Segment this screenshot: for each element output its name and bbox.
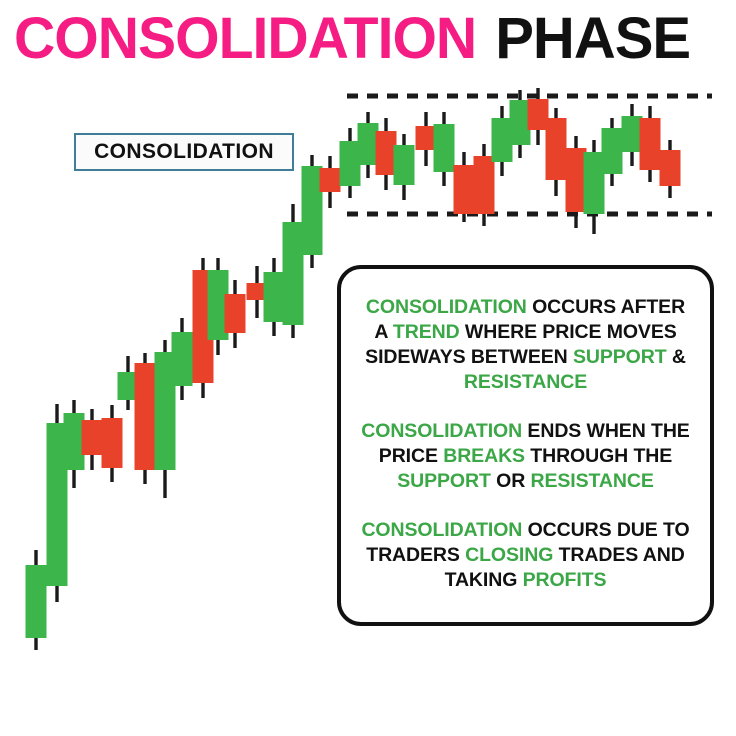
candle-33-down xyxy=(640,106,661,182)
candle-31-up xyxy=(602,118,623,186)
candle-body xyxy=(474,156,495,214)
plain-term: THROUGH THE xyxy=(525,445,672,467)
highlight-term: RESISTANCE xyxy=(464,371,587,393)
highlight-term: BREAKS xyxy=(443,445,525,467)
candle-body xyxy=(320,168,341,192)
candle-body xyxy=(546,118,567,180)
highlight-term: SUPPORT xyxy=(573,346,667,368)
candle-28-down xyxy=(546,108,567,196)
infographic-page: CONSOLIDATIONPHASE CONSOLIDATION CONSOLI… xyxy=(0,0,736,736)
candle-body xyxy=(416,126,437,150)
plain-term: OR xyxy=(491,470,531,492)
highlight-term: CONSOLIDATION xyxy=(361,420,522,442)
candle-body xyxy=(528,99,549,130)
candle-body xyxy=(492,118,513,162)
candle-body xyxy=(584,152,605,214)
candle-4-down xyxy=(102,405,123,482)
candle-body xyxy=(660,150,681,186)
candle-16-down xyxy=(320,156,341,208)
candle-body xyxy=(566,148,587,212)
candle-17-up xyxy=(340,128,361,198)
candle-14-up xyxy=(283,204,304,338)
candle-body xyxy=(602,128,623,174)
highlight-term: RESISTANCE xyxy=(531,470,654,492)
consolidation-range-label-text: CONSOLIDATION xyxy=(94,140,274,164)
candle-body xyxy=(102,418,123,468)
candle-body xyxy=(434,124,455,172)
candle-body xyxy=(302,166,323,255)
candle-13-up xyxy=(264,258,285,336)
highlight-term: PROFITS xyxy=(523,569,607,591)
info-paragraph-2: CONSOLIDATION ENDS WHEN THE PRICE BREAKS… xyxy=(361,419,691,494)
candle-body xyxy=(640,118,661,170)
candle-body xyxy=(622,116,643,152)
candle-23-down xyxy=(454,152,475,222)
highlight-term: CLOSING xyxy=(465,544,553,566)
candle-body xyxy=(340,141,361,186)
candle-body xyxy=(510,100,531,145)
candle-body xyxy=(394,145,415,185)
candle-body xyxy=(454,165,475,214)
candle-32-up xyxy=(622,104,643,166)
candle-24-down xyxy=(474,144,495,226)
candle-19-down xyxy=(376,118,397,190)
candle-0-up xyxy=(26,550,47,650)
candle-body xyxy=(135,363,156,470)
highlight-term: CONSOLIDATION xyxy=(366,296,527,318)
candle-3-down xyxy=(82,409,103,470)
candle-body xyxy=(264,272,285,322)
highlight-term: CONSOLIDATION xyxy=(361,519,522,541)
info-paragraph-1: CONSOLIDATION OCCURS AFTER A TREND WHERE… xyxy=(361,295,691,395)
candle-15-up xyxy=(302,155,323,268)
candle-body xyxy=(26,565,47,638)
candle-body xyxy=(225,294,246,333)
candle-18-up xyxy=(358,112,379,178)
candle-30-up xyxy=(584,140,605,234)
candle-body xyxy=(172,332,193,386)
info-box: CONSOLIDATION OCCURS AFTER A TREND WHERE… xyxy=(337,265,714,626)
highlight-term: SUPPORT xyxy=(397,470,491,492)
candle-body xyxy=(82,420,103,455)
candle-21-down xyxy=(416,112,437,166)
info-paragraph-3: CONSOLIDATION OCCURS DUE TO TRADERS CLOS… xyxy=(361,518,691,593)
plain-term: & xyxy=(667,346,686,368)
candle-20-up xyxy=(394,134,415,200)
consolidation-range-label: CONSOLIDATION xyxy=(74,133,294,171)
candle-body xyxy=(358,123,379,165)
candle-26-up xyxy=(510,90,531,158)
candle-25-up xyxy=(492,106,513,176)
candle-34-down xyxy=(660,140,681,198)
highlight-term: TREND xyxy=(393,321,460,343)
candle-body xyxy=(376,131,397,175)
candle-6-down xyxy=(135,353,156,484)
candle-22-up xyxy=(434,112,455,186)
candle-body xyxy=(283,222,304,325)
candle-body xyxy=(64,413,85,470)
